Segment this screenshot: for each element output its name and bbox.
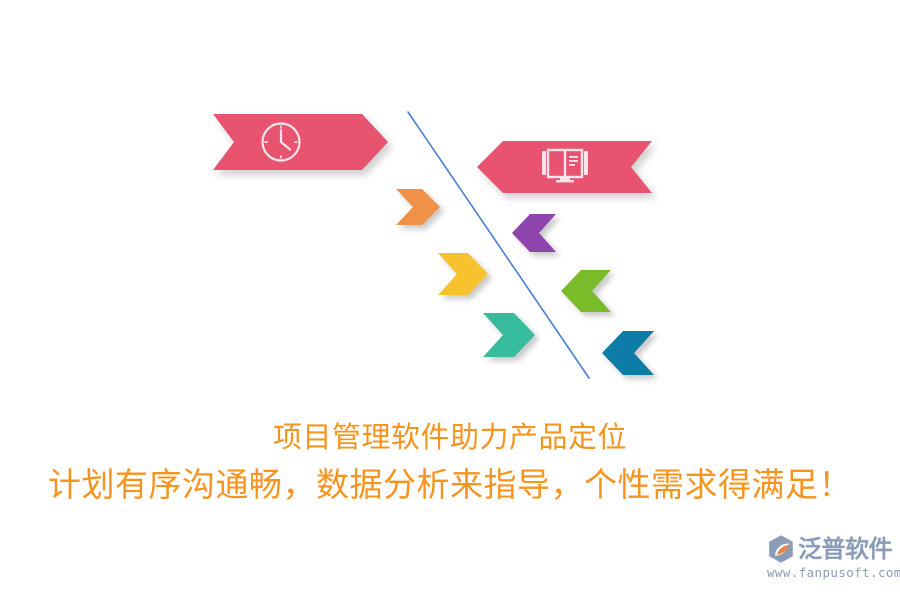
logo-website-url: www.fanpusoft.com	[767, 565, 892, 580]
caption-subheadline: 计划有序沟通畅，数据分析来指导，个性需求得满足！	[0, 465, 900, 505]
caption-headline: 项目管理软件助力产品定位	[0, 420, 900, 454]
chevron-purple[interactable]	[512, 214, 556, 252]
banner-schedule[interactable]	[213, 114, 388, 170]
chevron-orange[interactable]	[396, 189, 440, 225]
chevron-yellow[interactable]	[438, 253, 488, 295]
fanpu-logo[interactable]: 泛普软件 www.fanpusoft.com	[766, 534, 892, 582]
logo-brand-text: 泛普软件	[798, 535, 892, 563]
open-book-icon	[540, 147, 590, 187]
fanpu-circular-logo-icon	[766, 534, 796, 564]
clock-icon	[259, 120, 303, 164]
chevron-green[interactable]	[561, 270, 611, 312]
poster-canvas: 项目管理软件助力产品定位 计划有序沟通畅，数据分析来指导，个性需求得满足！ 泛普…	[0, 0, 900, 600]
chevron-blue[interactable]	[602, 331, 654, 375]
chevron-teal[interactable]	[483, 313, 535, 357]
banner-knowledge[interactable]	[477, 141, 652, 193]
diagonal-divider-line	[0, 0, 900, 600]
